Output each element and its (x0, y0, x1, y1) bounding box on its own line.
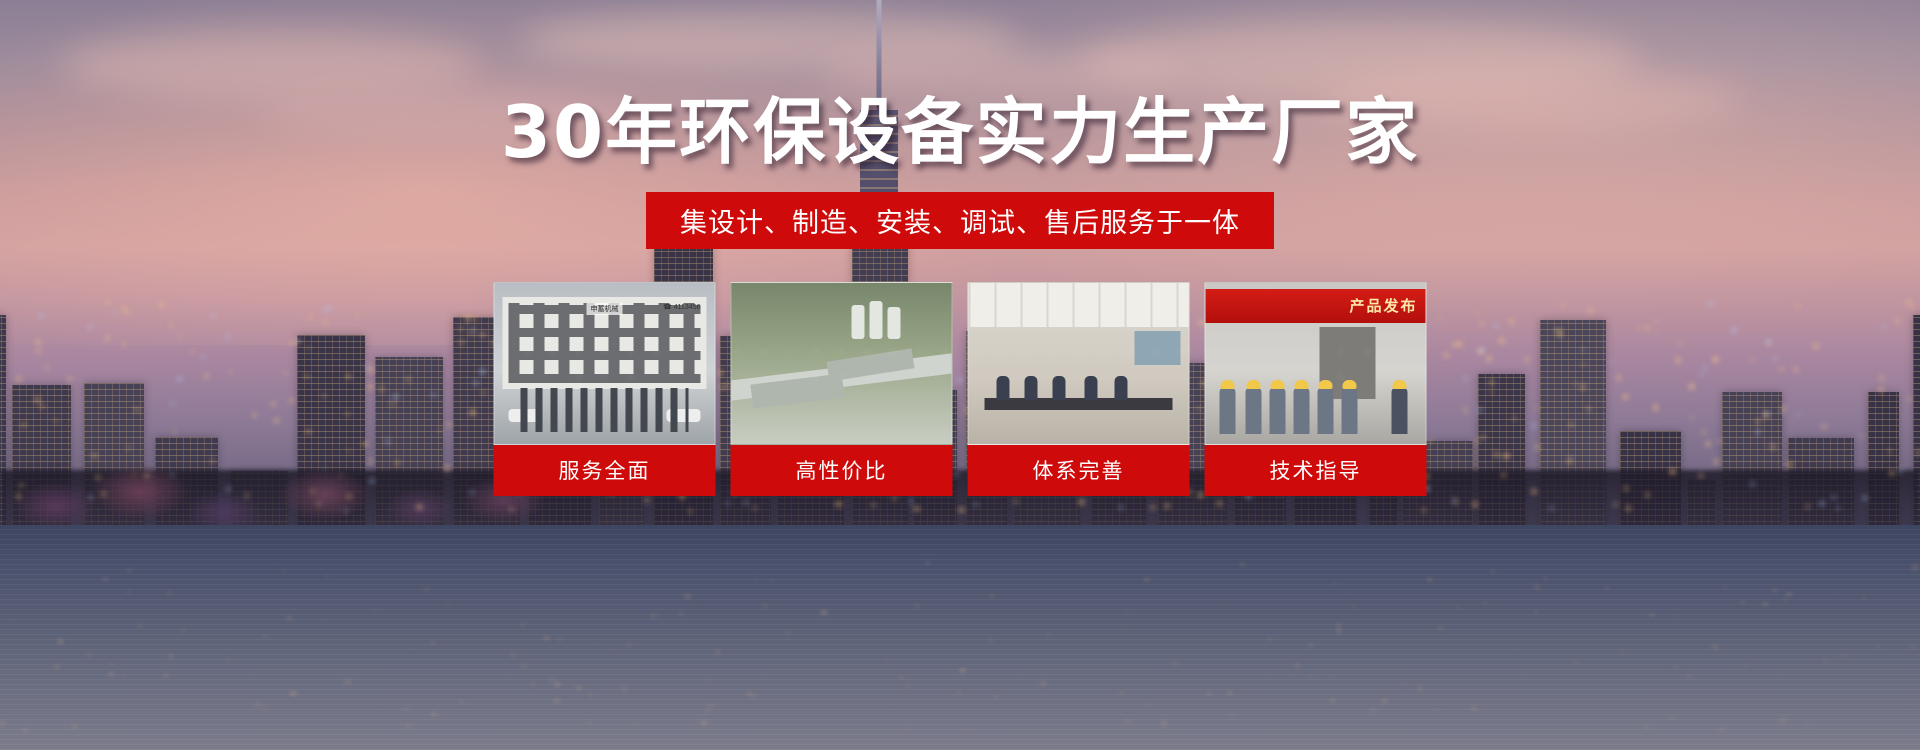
feature-card-label: 高性价比 (731, 445, 953, 496)
feature-card[interactable]: 产品发布 ◎◎◎◎◎◎◎◎◎◎◎◎ 技术指导 (1205, 282, 1427, 496)
feature-card-list: 申蓄机械 ☎ 4113456 ◎◎◎◎◎◎◎◎◎◎◎◎ 服务全面 (494, 282, 1427, 496)
feature-card-label: 技术指导 (1205, 445, 1427, 496)
page-title: 30年环保设备实力生产厂家 (0, 96, 1920, 168)
photo-sign-text: 产品发布 (1349, 295, 1417, 316)
subtitle-row: 集设计、制造、安装、调试、售后服务于一体 (0, 192, 1920, 249)
feature-card[interactable]: ◎◎◎◎◎◎◎◎◎◎◎◎ 高性价比 (731, 282, 953, 496)
photo-phone-text: ☎ 4113456 (663, 303, 700, 311)
photo-sign-text: 申蓄机械 (587, 303, 623, 315)
banner-content: 30年环保设备实力生产厂家 集设计、制造、安装、调试、售后服务于一体 申蓄机械 … (0, 0, 1920, 750)
hero-banner: 30年环保设备实力生产厂家 集设计、制造、安装、调试、售后服务于一体 申蓄机械 … (0, 0, 1920, 750)
subtitle-badge: 集设计、制造、安装、调试、售后服务于一体 (646, 192, 1274, 249)
feature-card[interactable]: ◎◎◎◎◎◎◎◎◎◎◎◎ 体系完善 (968, 282, 1190, 496)
company-headquarters-building-photo: 申蓄机械 ☎ 4113456 ◎◎◎◎◎◎◎◎◎◎◎◎ (494, 282, 716, 445)
aerial-factory-plant-photo: ◎◎◎◎◎◎◎◎◎◎◎◎ (731, 282, 953, 445)
office-team-workspace-photo: ◎◎◎◎◎◎◎◎◎◎◎◎ (968, 282, 1190, 445)
feature-card-label: 体系完善 (968, 445, 1190, 496)
feature-card[interactable]: 申蓄机械 ☎ 4113456 ◎◎◎◎◎◎◎◎◎◎◎◎ 服务全面 (494, 282, 716, 496)
workers-on-site-photo: 产品发布 ◎◎◎◎◎◎◎◎◎◎◎◎ (1205, 282, 1427, 445)
feature-card-label: 服务全面 (494, 445, 716, 496)
